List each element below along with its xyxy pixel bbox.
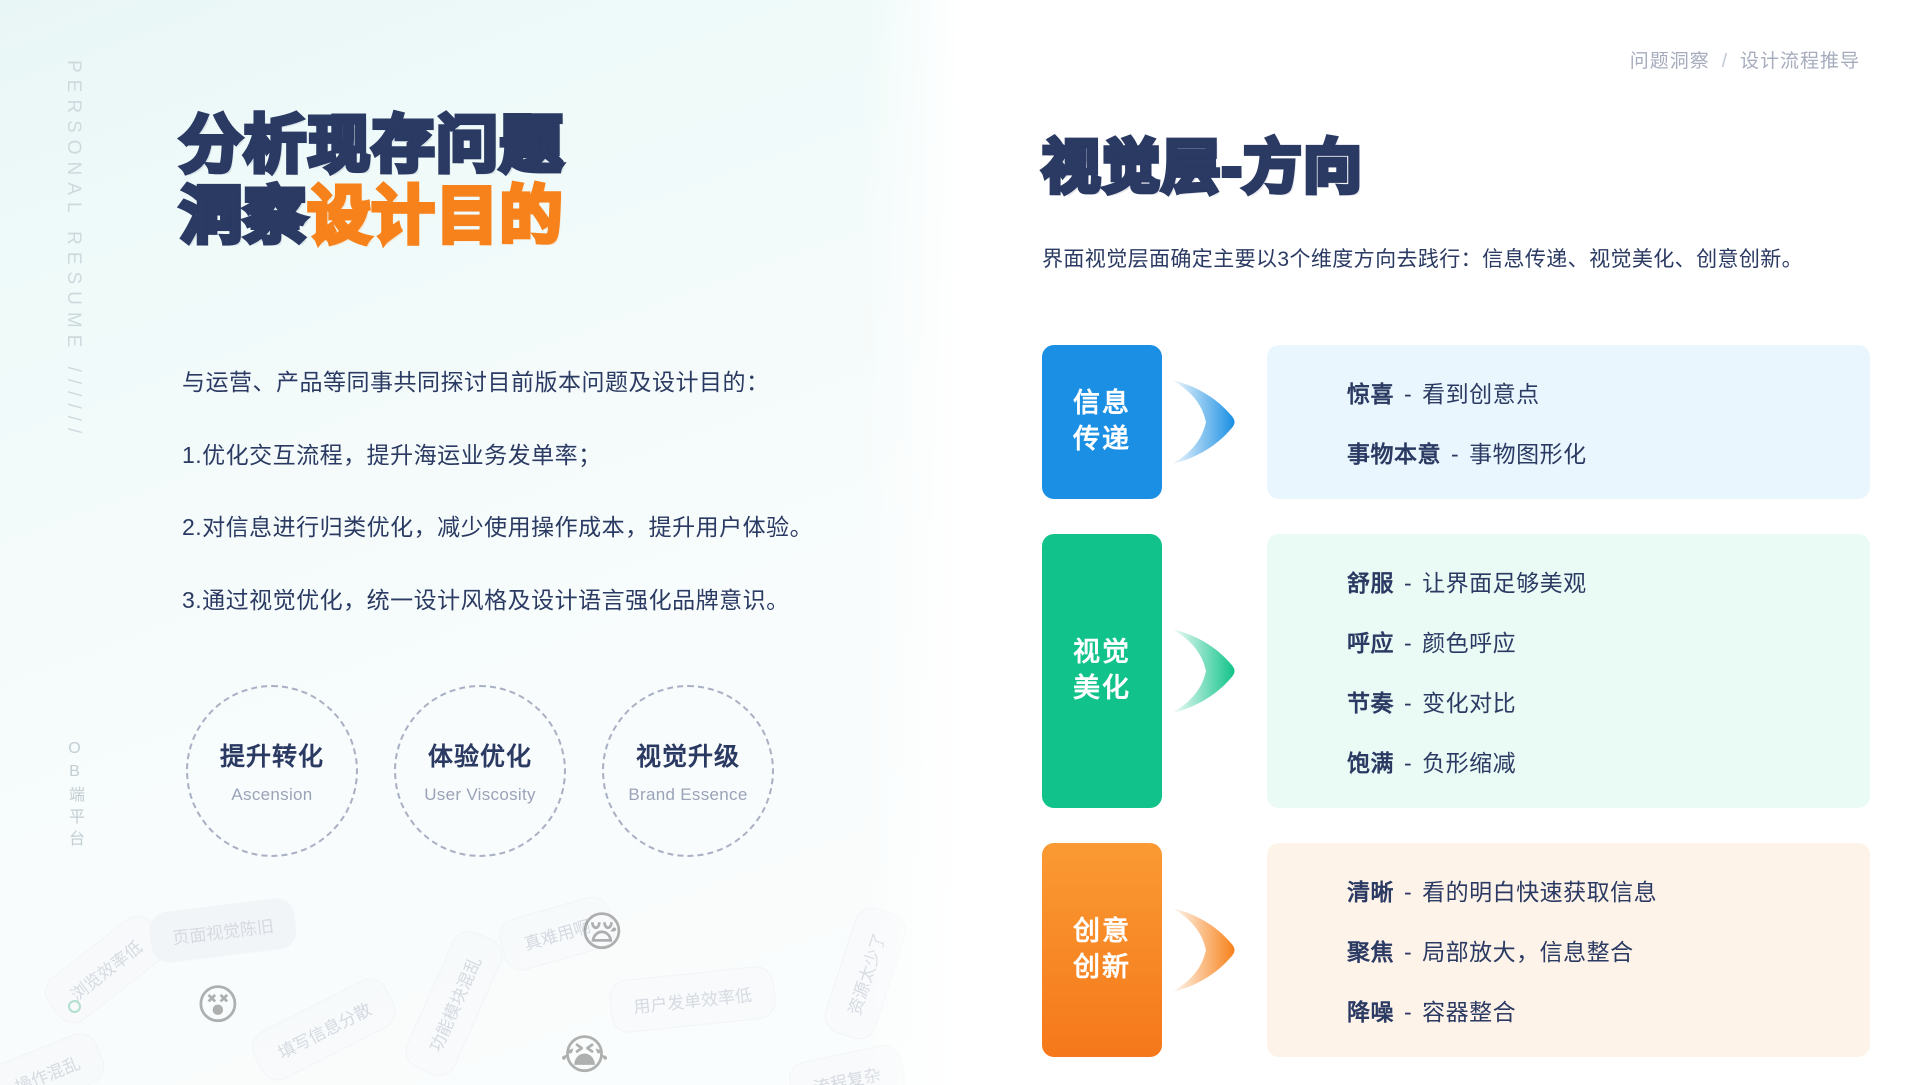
dimension-tag: 视觉 美化 [1042, 534, 1162, 808]
dimension-rows: 信息 传递 [1042, 345, 1870, 1057]
dimension-item-value: 局部放大，信息整合 [1422, 939, 1634, 965]
vertical-brand-label: PERSONAL RESUME ////// [62, 60, 84, 440]
dimension-item: 节奏-变化对比 [1347, 684, 1870, 718]
dimension-panel: 舒服-让界面足够美观 呼应-颜色呼应 节奏-变化对比 饱满-负形缩减 [1267, 534, 1870, 808]
dimension-item-dash: - [1404, 630, 1412, 656]
feedback-bubble: 填写信息分散 [246, 972, 402, 1085]
body-paragraph-1: 1.优化交互流程，提升海运业务发单率； [182, 438, 912, 473]
headline-line-2: 洞察设计目的 [180, 184, 564, 251]
breadcrumb-item-second[interactable]: 设计流程推导 [1740, 51, 1860, 72]
dizzy-face-emoji-icon: 😵 [196, 980, 240, 1029]
dimension-item: 清晰-看的明白快速获取信息 [1347, 873, 1870, 907]
goal-circles: 提升转化 Ascension 体验优化 User Viscosity 视觉升级 … [186, 685, 774, 857]
vertical-platform-label: OB端平台 [62, 740, 86, 852]
dimension-item-key: 聚焦 [1347, 939, 1394, 965]
dimension-item: 聚焦-局部放大，信息整合 [1347, 933, 1870, 967]
breadcrumb: 问题洞察/设计流程推导 [1630, 46, 1860, 73]
left-headline: 分析现存问题 洞察设计目的 [180, 113, 564, 251]
dimension-item-dash: - [1404, 570, 1412, 596]
dimension-item-value: 变化对比 [1422, 690, 1516, 716]
goal-circle-title: 视觉升级 [636, 737, 740, 773]
dimension-tag: 创意 创新 [1042, 843, 1162, 1057]
dimension-item-dash: - [1451, 441, 1459, 467]
headline-line-2-navy: 洞察 [180, 182, 308, 251]
dimension-tag-line1: 信息 [1073, 386, 1131, 422]
goal-circle-subtitle: User Viscosity [424, 785, 536, 805]
dimension-item-key: 呼应 [1347, 630, 1394, 656]
dimension-item-dash: - [1404, 690, 1412, 716]
goal-circle-subtitle: Brand Essence [628, 785, 747, 805]
dimension-tag: 信息 传递 [1042, 345, 1162, 499]
dimension-item: 降噪-容器整合 [1347, 993, 1870, 1027]
feedback-bubble: 页面视觉陈旧 [147, 896, 298, 964]
dimension-item-value: 让界面足够美观 [1422, 570, 1587, 596]
breadcrumb-item-first[interactable]: 问题洞察 [1630, 51, 1710, 72]
dimension-item: 饱满-负形缩减 [1347, 744, 1870, 778]
goal-circle-subtitle: Ascension [231, 785, 312, 805]
dimension-tag-line2: 美化 [1073, 671, 1131, 707]
page-subtitle: 界面视觉层面确定主要以3个维度方向去践行：信息传递、视觉美化、创意创新。 [1042, 243, 1872, 273]
goal-circle: 提升转化 Ascension [186, 685, 358, 857]
dimension-item: 舒服-让界面足够美观 [1347, 564, 1870, 598]
arrow-right-icon [1162, 534, 1267, 808]
left-panel: PERSONAL RESUME ////// OB端平台 分析现存问题 洞察设计… [0, 0, 980, 1085]
dimension-item-dash: - [1404, 381, 1412, 407]
dimension-item-dash: - [1404, 750, 1412, 776]
dimension-item-key: 节奏 [1347, 690, 1394, 716]
loudly-crying-emoji-icon: 😭 [560, 1030, 609, 1079]
goal-circle: 视觉升级 Brand Essence [602, 685, 774, 857]
dimension-item: 呼应-颜色呼应 [1347, 624, 1870, 658]
dimension-tag-line1: 创意 [1073, 914, 1131, 950]
goal-circle-title: 提升转化 [220, 737, 324, 773]
body-paragraph-2: 2.对信息进行归类优化，减少使用操作成本，提升用户体验。 [182, 510, 912, 545]
dimension-item-dash: - [1404, 999, 1412, 1025]
dimension-item-value: 容器整合 [1422, 999, 1516, 1025]
dimension-panel: 惊喜-看到创意点 事物本意-事物图形化 [1267, 345, 1870, 499]
feedback-bubble: 操作混乱 [0, 1028, 110, 1085]
dimension-row: 创意 创新 [1042, 843, 1870, 1057]
feedback-bubble: 用户发单效率低 [608, 965, 778, 1035]
body-paragraph-3: 3.通过视觉优化，统一设计风格及设计语言强化品牌意识。 [182, 583, 912, 618]
feedback-bubble: 功能模块混乱 [400, 925, 509, 1082]
dimension-item-key: 降噪 [1347, 999, 1394, 1025]
dimension-item: 事物本意-事物图形化 [1347, 435, 1870, 469]
dimension-item-key: 清晰 [1347, 879, 1394, 905]
left-body-copy: 与运营、产品等同事共同探讨目前版本问题及设计目的： 1.优化交互流程，提升海运业… [182, 365, 912, 617]
dimension-item-key: 事物本意 [1347, 441, 1441, 467]
dimension-tag-line1: 视觉 [1073, 635, 1131, 671]
dimension-item-value: 负形缩减 [1422, 750, 1516, 776]
headline-line-2-orange: 设计目的 [308, 182, 564, 251]
right-panel: 问题洞察/设计流程推导 视觉层-方向 界面视觉层面确定主要以3个维度方向去践行：… [980, 0, 1920, 1085]
headline-line-1: 分析现存问题 [180, 113, 564, 180]
dimension-item: 惊喜-看到创意点 [1347, 375, 1870, 409]
feedback-bubble: 资源太少了 [820, 903, 911, 1044]
dimension-item-dash: - [1404, 939, 1412, 965]
goal-circle: 体验优化 User Viscosity [394, 685, 566, 857]
feedback-bubble: 流程复杂 [786, 1042, 909, 1085]
dimension-item-value: 颜色呼应 [1422, 630, 1516, 656]
body-paragraph-intro: 与运营、产品等同事共同探讨目前版本问题及设计目的： [182, 365, 912, 400]
headline-line-1-text: 分析现存问题 [180, 111, 564, 180]
dimension-tag-line2: 传递 [1073, 422, 1131, 458]
goal-circle-title: 体验优化 [428, 737, 532, 773]
breadcrumb-separator: / [1722, 51, 1728, 72]
dimension-item-key: 饱满 [1347, 750, 1394, 776]
dimension-item-value: 看到创意点 [1422, 381, 1540, 407]
dimension-tag-line2: 创新 [1073, 950, 1131, 986]
decorative-feedback-bubbles: 浏览效率低 页面视觉陈旧 填写信息分散 功能模块混乱 真难用啊 用户发单效率低 … [0, 885, 980, 1085]
arrow-right-icon [1162, 843, 1267, 1057]
arrow-right-icon [1162, 345, 1267, 499]
dimension-item-key: 舒服 [1347, 570, 1394, 596]
dimension-item-value: 事物图形化 [1469, 441, 1587, 467]
dimension-item-key: 惊喜 [1347, 381, 1394, 407]
dimension-row: 视觉 美化 [1042, 534, 1870, 808]
sleepy-face-emoji-icon: 😪 [580, 907, 624, 956]
slide-root: PERSONAL RESUME ////// OB端平台 分析现存问题 洞察设计… [0, 0, 1920, 1085]
page-title: 视觉层-方向 [1042, 120, 1363, 204]
dimension-item-value: 看的明白快速获取信息 [1422, 879, 1657, 905]
dimension-row: 信息 传递 [1042, 345, 1870, 499]
dimension-panel: 清晰-看的明白快速获取信息 聚焦-局部放大，信息整合 降噪-容器整合 [1267, 843, 1870, 1057]
dimension-item-dash: - [1404, 879, 1412, 905]
